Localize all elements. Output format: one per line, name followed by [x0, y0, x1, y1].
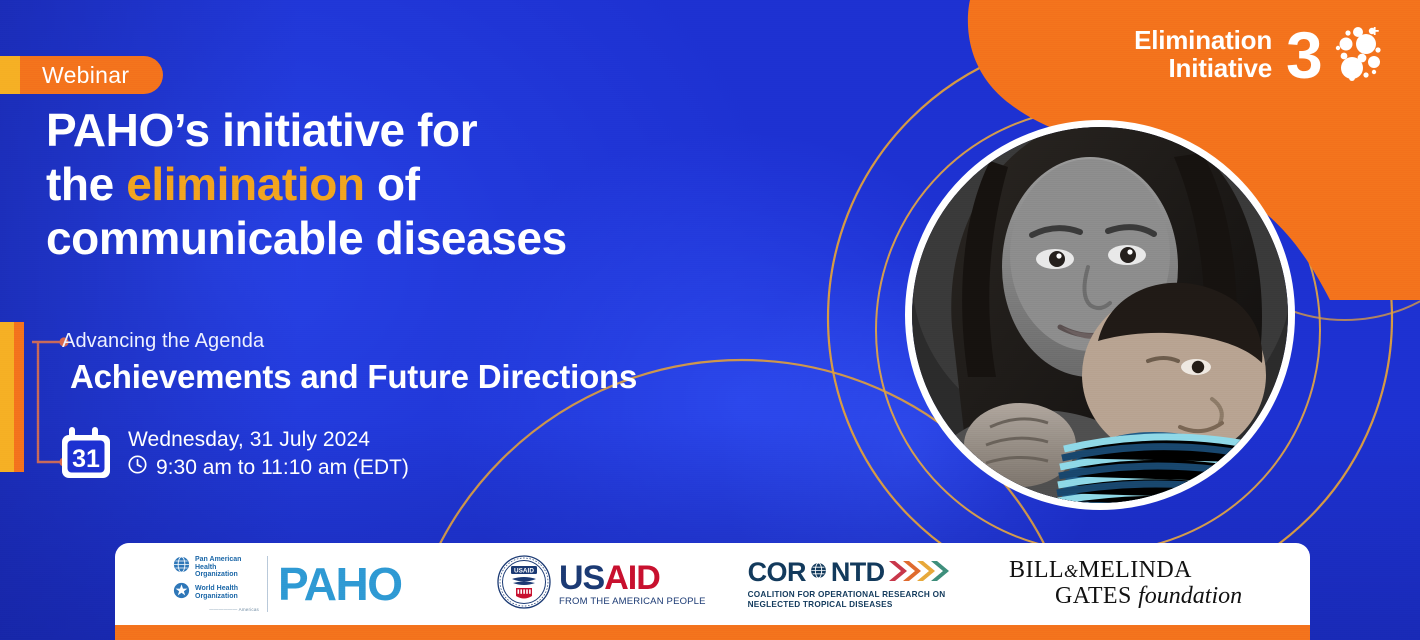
texture-overlay [0, 0, 1420, 640]
webinar-banner: Webinar PAHO’s initiative for the elimin… [0, 0, 1420, 640]
